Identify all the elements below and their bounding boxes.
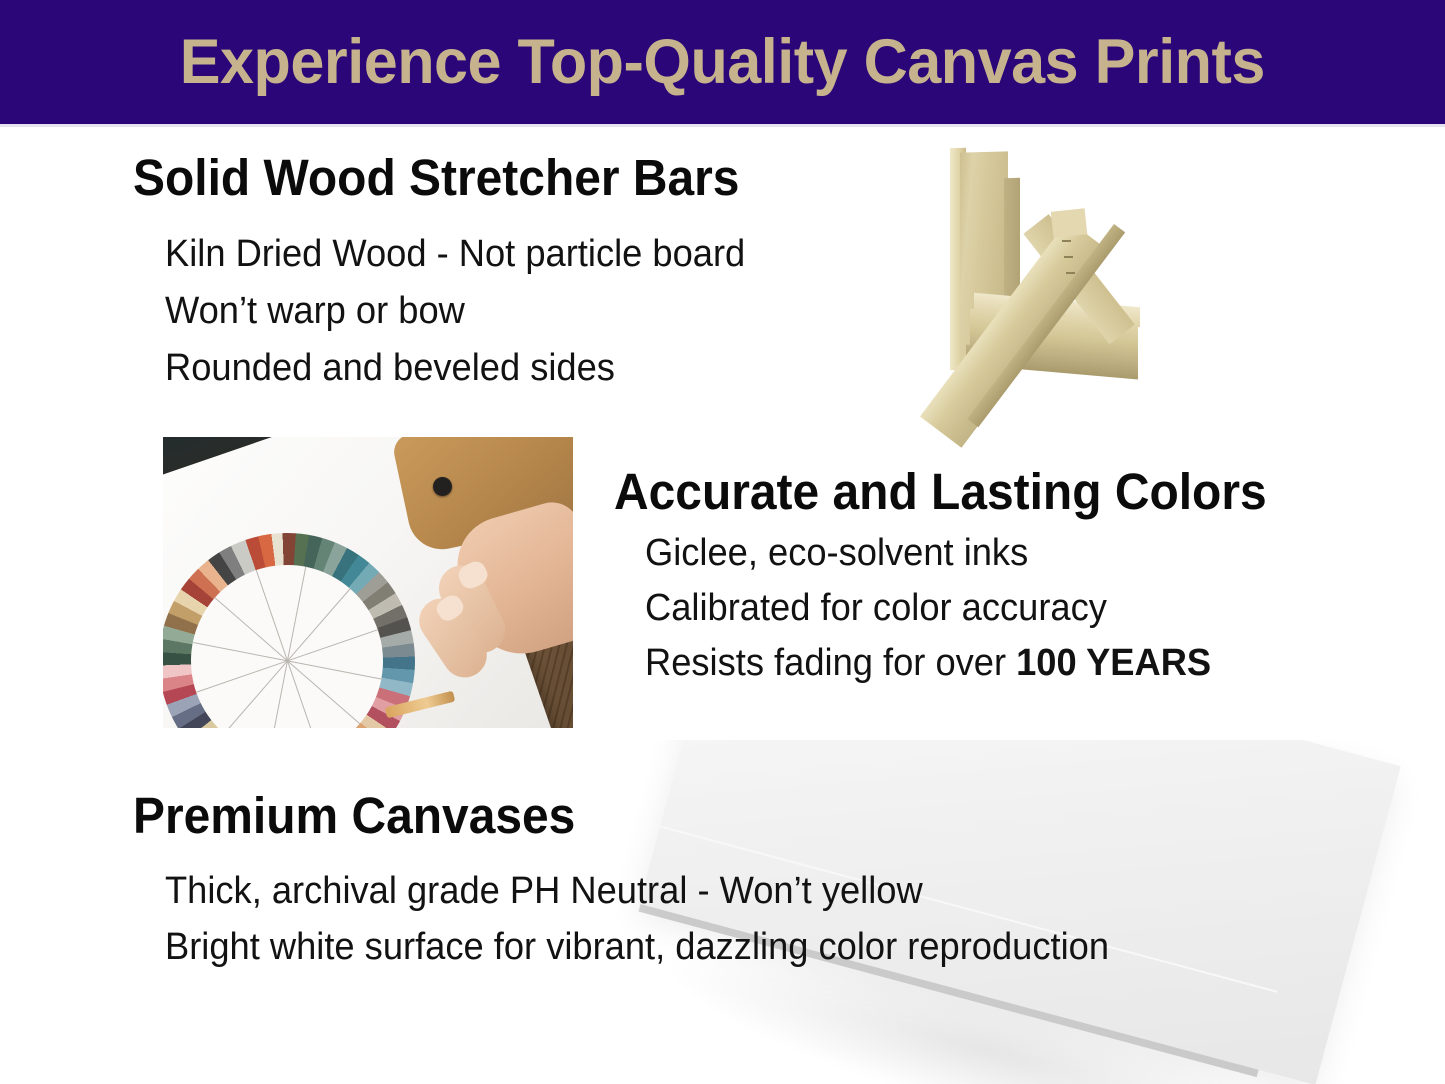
color-wheel-spoke	[287, 660, 381, 679]
infographic-page: Experience Top-Quality Canvas Prints Sol…	[0, 0, 1445, 1084]
color-wheel-spoke	[287, 661, 319, 728]
bullet-thick-archival-grade: Thick, archival grade PH Neutral - Won’t…	[165, 872, 923, 910]
blank-white-canvas-photo	[600, 740, 1445, 1084]
bullet-calibrated-for-color-accuracy: Calibrated for color accuracy	[645, 589, 1107, 627]
bullet-kiln-dried-wood: Kiln Dried Wood - Not particle board	[165, 235, 745, 273]
wood-apex-joint	[1051, 208, 1088, 237]
bullet-bright-white-surface: Bright white surface for vibrant, dazzli…	[165, 928, 1109, 966]
color-wheel-spoke	[287, 567, 306, 661]
sleeve-button	[433, 477, 452, 496]
bullet-resists-fading: Resists fading for over 100 YEARS	[645, 644, 1211, 682]
wood-stretcher-bars-photo	[940, 140, 1230, 420]
wood-staple	[1066, 272, 1075, 274]
page-title: Experience Top-Quality Canvas Prints	[180, 31, 1265, 94]
section-heading-premium-canvases: Premium Canvases	[133, 790, 575, 841]
bullet-giclee-eco-solvent-inks: Giclee, eco-solvent inks	[645, 534, 1028, 572]
header-divider	[0, 124, 1445, 127]
color-wheel-spoke	[193, 642, 287, 661]
wood-staple	[1064, 256, 1073, 258]
bullet-wont-warp-or-bow: Won’t warp or bow	[165, 292, 465, 330]
section-heading-accurate-and-lasting-colors: Accurate and Lasting Colors	[614, 466, 1267, 517]
bullet-resists-fading-prefix: Resists fading for over	[645, 642, 1016, 684]
header-banner: Experience Top-Quality Canvas Prints	[0, 0, 1445, 124]
wood-staple	[1062, 240, 1071, 242]
bullet-rounded-and-beveled-sides: Rounded and beveled sides	[165, 349, 615, 387]
bullet-resists-fading-emphasis: 100 YEARS	[1016, 642, 1211, 684]
section-heading-solid-wood-stretcher-bars: Solid Wood Stretcher Bars	[133, 152, 739, 203]
color-wheel-photo	[163, 437, 573, 728]
